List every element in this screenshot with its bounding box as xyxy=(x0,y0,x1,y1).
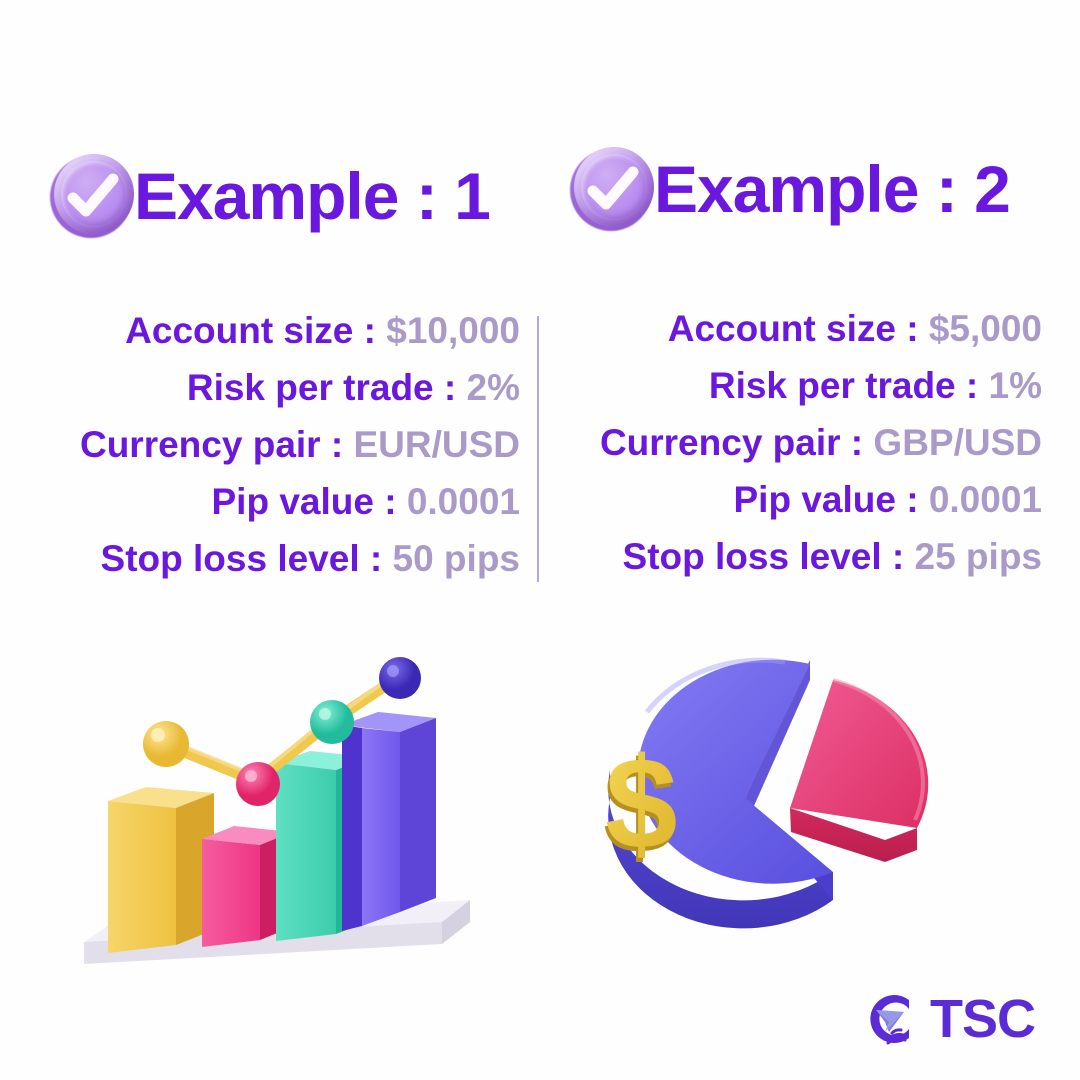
spec-label: Stop loss level : xyxy=(101,538,393,579)
spec-value: 1% xyxy=(989,365,1042,406)
check-badge-icon xyxy=(48,152,136,240)
spec-value: GBP/USD xyxy=(873,422,1042,463)
dollar-sign-icon: $ $ xyxy=(603,730,678,880)
spec-label: Account size : xyxy=(668,308,929,349)
tsc-logo: TSC xyxy=(862,988,1035,1050)
spec-value: 50 pips xyxy=(393,538,521,579)
bar-4 xyxy=(342,712,436,931)
example-2-title: Example : 2 xyxy=(654,156,1010,222)
spec-row-pip-value: Pip value : 0.0001 xyxy=(552,481,1042,518)
spec-value: $10,000 xyxy=(386,310,520,351)
spec-label: Stop loss level : xyxy=(623,536,915,577)
spec-row-stop-loss-level: Stop loss level : 50 pips xyxy=(10,540,520,577)
spec-label: Risk per trade : xyxy=(709,365,989,406)
spec-value: 25 pips xyxy=(915,536,1043,577)
column-divider xyxy=(537,316,539,582)
spec-label: Risk per trade : xyxy=(187,367,467,408)
spec-row-account-size: Account size : $10,000 xyxy=(10,312,520,349)
spec-label: Pip value : xyxy=(211,481,406,522)
spec-row-currency-pair: Currency pair : EUR/USD xyxy=(10,426,520,463)
spec-row-risk-per-trade: Risk per trade : 1% xyxy=(552,367,1042,404)
marker-1 xyxy=(143,721,189,767)
poster-canvas: Example : 1 Example : 2 Account size : $… xyxy=(0,0,1080,1080)
spec-row-stop-loss-level: Stop loss level : 25 pips xyxy=(552,538,1042,575)
spec-label: Account size : xyxy=(125,310,386,351)
example-2-heading: Example : 2 xyxy=(568,145,1010,233)
tsc-circle-plane-icon xyxy=(862,988,924,1050)
svg-text:$: $ xyxy=(605,730,677,876)
example-1-spec-list: Account size : $10,000 Risk per trade : … xyxy=(10,312,520,597)
example-1-heading: Example : 1 xyxy=(48,152,490,240)
marker-2 xyxy=(236,762,280,806)
3d-bar-chart-illustration xyxy=(70,650,490,980)
spec-value: $5,000 xyxy=(929,308,1042,349)
marker-4 xyxy=(379,657,421,699)
example-1-title: Example : 1 xyxy=(134,163,490,229)
spec-value: EUR/USD xyxy=(353,424,520,465)
bar-1 xyxy=(108,787,214,953)
spec-value: 2% xyxy=(467,367,520,408)
spec-label: Pip value : xyxy=(733,479,928,520)
spec-value: 0.0001 xyxy=(929,479,1042,520)
spec-label: Currency pair : xyxy=(600,422,873,463)
example-2-spec-list: Account size : $5,000 Risk per trade : 1… xyxy=(552,310,1042,595)
spec-row-currency-pair: Currency pair : GBP/USD xyxy=(552,424,1042,461)
spec-row-risk-per-trade: Risk per trade : 2% xyxy=(10,369,520,406)
spec-row-pip-value: Pip value : 0.0001 xyxy=(10,483,520,520)
3d-pie-chart-illustration: $ $ xyxy=(585,650,985,950)
check-badge-icon xyxy=(568,145,656,233)
spec-value: 0.0001 xyxy=(407,481,520,522)
logo-wordmark: TSC xyxy=(930,992,1035,1046)
spec-label: Currency pair : xyxy=(80,424,353,465)
marker-3 xyxy=(310,700,354,744)
spec-row-account-size: Account size : $5,000 xyxy=(552,310,1042,347)
